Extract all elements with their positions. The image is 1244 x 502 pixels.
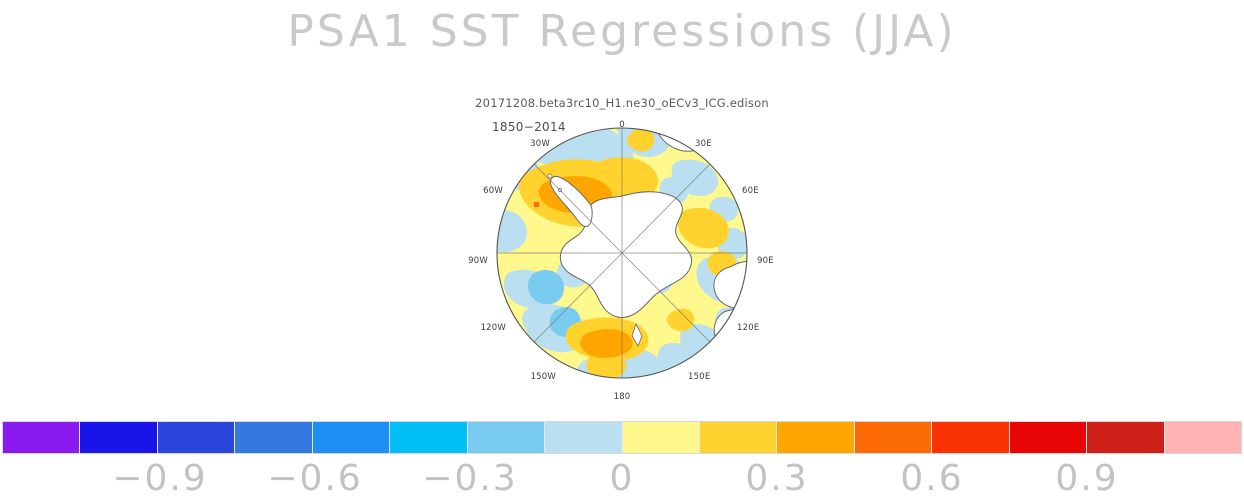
colorbar-tick-neg0.9: −0.9	[112, 458, 207, 499]
colorbar-tick-0: 0	[610, 458, 635, 499]
lon-label-180: 180	[614, 392, 631, 402]
lon-label-150W: 150W	[531, 372, 556, 382]
colorbar-cell-15[interactable]	[1165, 422, 1241, 453]
lon-label-150E: 150E	[688, 372, 710, 382]
colorbar-tick-neg0.6: −0.6	[267, 458, 362, 499]
colorbar-tick-0.3: 0.3	[745, 458, 808, 499]
lon-label-0: 0	[619, 120, 625, 130]
island-speck	[548, 174, 552, 178]
south-polar-stereographic-map	[470, 112, 780, 402]
colorbar-cell-12[interactable]	[932, 422, 1009, 453]
map-field-layer	[470, 112, 780, 392]
colorbar-tick-labels: −0.9−0.6−0.300.30.60.9	[0, 454, 1244, 502]
colorbar-cell-0[interactable]	[3, 422, 80, 453]
colorbar-cell-9[interactable]	[700, 422, 777, 453]
lon-label-90E: 90E	[757, 256, 774, 266]
colorbar-cell-7[interactable]	[545, 422, 622, 453]
colorbar-cell-6[interactable]	[468, 422, 545, 453]
lon-label-120E: 120E	[737, 323, 759, 333]
polar-map-panel: 030E60E90E120E150E180150W120W90W60W30W	[470, 112, 780, 402]
colorbar-tick-neg0.3: −0.3	[422, 458, 517, 499]
colorbar-cell-14[interactable]	[1087, 422, 1164, 453]
colorbar-cell-4[interactable]	[313, 422, 390, 453]
lon-label-60W: 60W	[483, 186, 503, 196]
positive-peak-speck	[534, 202, 539, 207]
lon-label-90W: 90W	[468, 256, 488, 266]
colorbar-cell-10[interactable]	[777, 422, 854, 453]
colorbar-cell-1[interactable]	[80, 422, 157, 453]
lon-label-30E: 30E	[695, 139, 712, 149]
colorbar-cell-3[interactable]	[235, 422, 312, 453]
colorbar-cell-13[interactable]	[1010, 422, 1087, 453]
lon-label-30W: 30W	[530, 139, 550, 149]
colorbar-cell-11[interactable]	[855, 422, 932, 453]
colorbar-strip[interactable]	[2, 421, 1242, 454]
colorbar-cell-8[interactable]	[623, 422, 700, 453]
lon-label-120W: 120W	[481, 323, 506, 333]
colorbar-cell-2[interactable]	[158, 422, 235, 453]
colorbar-panel: −0.9−0.6−0.300.30.60.9	[0, 421, 1244, 502]
colorbar-tick-0.6: 0.6	[900, 458, 963, 499]
colorbar-tick-0.9: 0.9	[1055, 458, 1118, 499]
case-name-subtitle: 20171208.beta3rc10_H1.ne30_oECv3_ICG.edi…	[0, 96, 1244, 110]
page-title: PSA1 SST Regressions (JJA)	[0, 6, 1244, 57]
colorbar-cell-5[interactable]	[390, 422, 467, 453]
lon-label-60E: 60E	[742, 186, 759, 196]
